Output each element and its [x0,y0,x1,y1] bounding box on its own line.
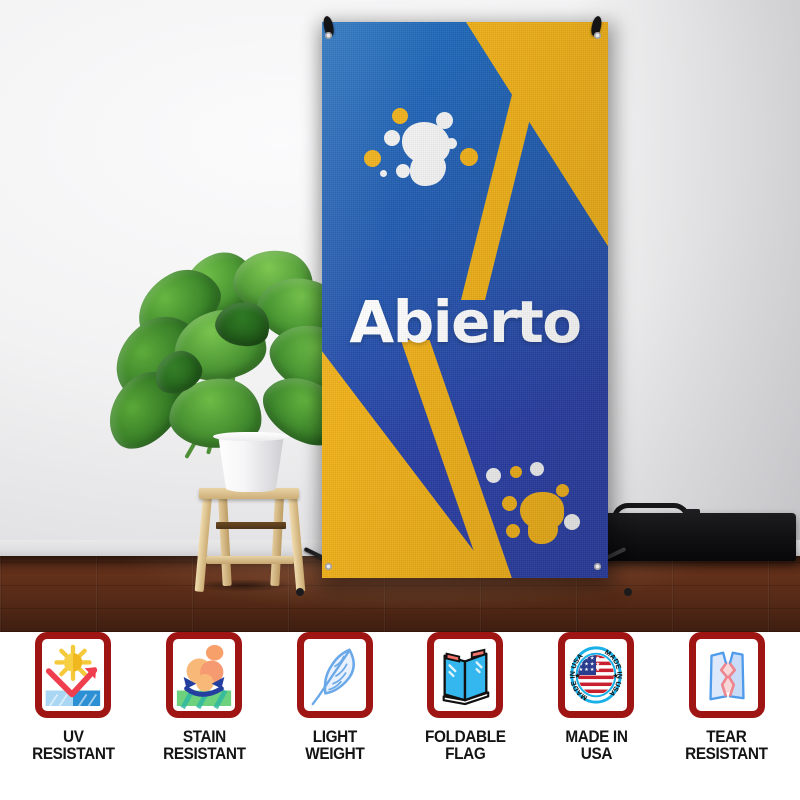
feature-label: FOLDABLE FLAG [425,729,506,763]
feature-uv-resistant: UV RESISTANT [8,632,139,763]
feature-badges: UV RESISTANT [0,632,800,800]
feature-label: UV RESISTANT [32,729,114,763]
svg-text:★: ★ [574,672,580,680]
product-image: Abierto [0,0,800,800]
made-in-usa-seal-icon: ★ ★ ★ ★ ★ ★ ★ ★ ★ ★ ★ ★ MADE IN USA MADE [565,639,627,711]
uv-sun-reflect-icon [42,639,104,711]
svg-text:★: ★ [612,672,618,680]
paint-splatter-white [362,94,492,194]
feature-icon-box [689,632,765,718]
torn-paper-icon [696,639,758,711]
feature-icon-box [297,632,373,718]
grommet-top-right [594,32,601,39]
stool-rail [206,556,294,564]
x-banner-display: Abierto [322,22,608,578]
feature-made-in-usa: ★ ★ ★ ★ ★ ★ ★ ★ ★ ★ ★ ★ MADE IN USA MADE [531,632,662,763]
folded-flag-icon [434,639,496,711]
feature-label: STAIN RESISTANT [163,729,245,763]
feature-stain-resistant: STAIN RESISTANT [139,632,270,763]
grommet-top-left [325,32,332,39]
banner-headline: Abierto [322,288,608,356]
feature-tear-resistant: TEAR RESISTANT [661,632,792,763]
feature-icon-box [35,632,111,718]
stand-foot-cap [296,588,304,596]
feature-label: LIGHT WEIGHT [305,729,364,763]
scene-photo: Abierto [0,0,800,632]
feature-icon-box: ★ ★ ★ ★ ★ ★ ★ ★ ★ ★ ★ ★ MADE IN USA MADE [558,632,634,718]
stool-shelf [216,522,286,529]
grommet-bottom-right [594,563,601,570]
stain-droplet-icon [173,639,235,711]
feature-label: TEAR RESISTANT [685,729,767,763]
paint-splatter-yellow [480,462,600,554]
feature-icon-box [427,632,503,718]
feature-foldable-flag: FOLDABLE FLAG [400,632,531,763]
feature-label: MADE IN USA [565,729,627,763]
feather-icon [304,639,366,711]
grommet-bottom-left [325,563,332,570]
planter-rim [213,432,289,441]
stand-foot-cap [624,588,632,596]
feature-light-weight: LIGHT WEIGHT [269,632,400,763]
white-planter [215,434,287,492]
feature-icon-box [166,632,242,718]
svg-text:★ ★ ★ ★: ★ ★ ★ ★ [579,667,601,673]
